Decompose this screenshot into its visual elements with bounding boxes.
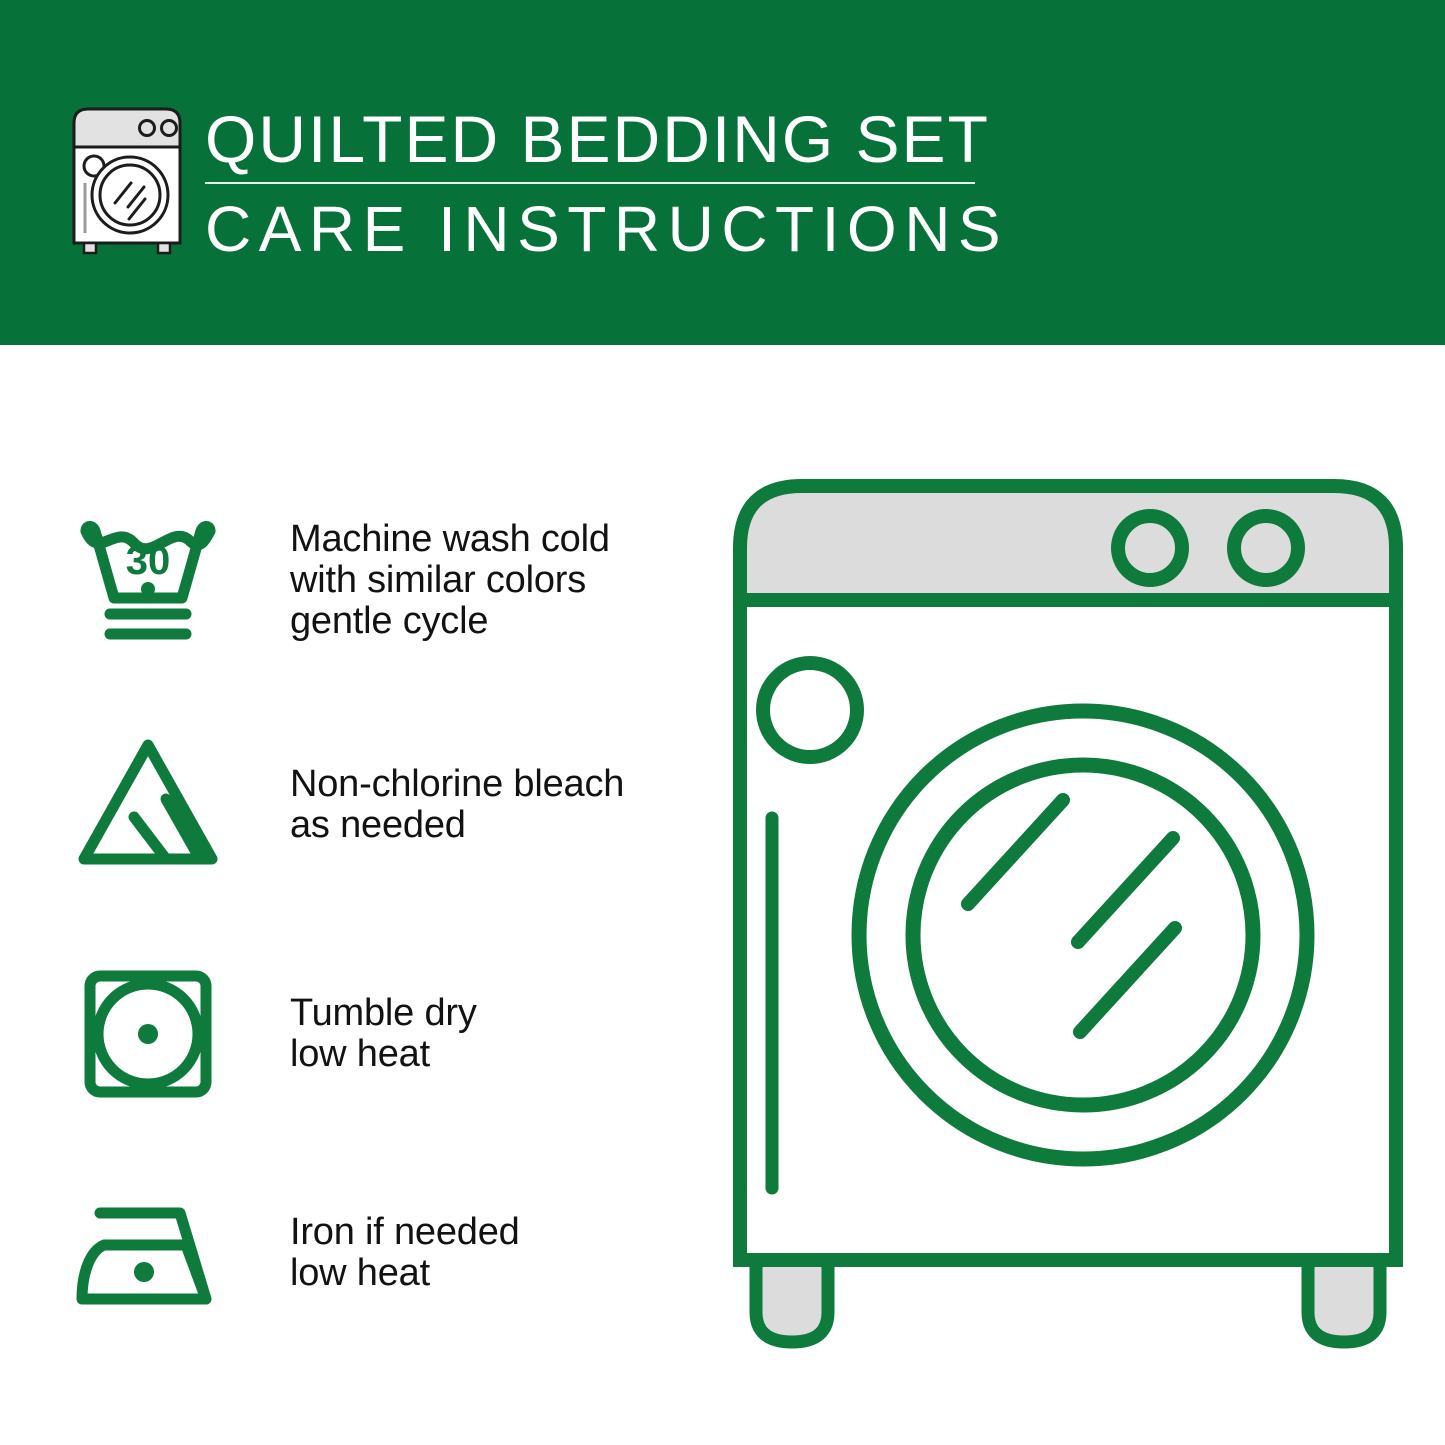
care-label-bleach: Non-chlorine bleach as needed	[290, 764, 624, 846]
header-text-block: QUILTED BEDDING SET CARE INSTRUCTIONS	[205, 100, 995, 266]
header-banner: QUILTED BEDDING SET CARE INSTRUCTIONS	[0, 0, 1445, 345]
care-row-tumble-dry: Tumble dry low heat	[0, 946, 700, 1121]
care-label-line: low heat	[290, 1034, 477, 1075]
washing-machine-logo-icon	[68, 103, 186, 255]
care-row-machine-wash: 30 Machine wash cold with similar colors…	[0, 493, 700, 668]
wash-temperature-value: 30	[126, 539, 171, 583]
care-label-line: Iron if needed	[290, 1212, 520, 1253]
care-label-machine-wash: Machine wash cold with similar colors ge…	[290, 519, 610, 642]
care-label-line: as needed	[290, 805, 624, 846]
non-chlorine-bleach-triangle-icon	[68, 725, 228, 885]
machine-dispenser-indicator	[763, 663, 857, 757]
care-label-line: Machine wash cold	[290, 519, 610, 560]
tumble-dry-low-heat-icon	[68, 954, 228, 1114]
page-subtitle: CARE INSTRUCTIONS	[205, 192, 995, 266]
machine-knob	[1118, 516, 1182, 580]
care-label-iron: Iron if needed low heat	[290, 1212, 520, 1294]
care-label-tumble-dry: Tumble dry low heat	[290, 993, 477, 1075]
care-instructions-infographic: QUILTED BEDDING SET CARE INSTRUCTIONS	[0, 0, 1445, 1445]
care-row-bleach: Non-chlorine bleach as needed	[0, 717, 700, 892]
wash-tub-30-icon: 30	[68, 501, 228, 661]
washing-machine-illustration	[718, 470, 1418, 1360]
care-row-iron: Iron if needed low heat	[0, 1165, 700, 1340]
iron-low-heat-icon	[68, 1173, 228, 1333]
care-label-line: Tumble dry	[290, 993, 477, 1034]
care-instructions-list: 30 Machine wash cold with similar colors…	[0, 345, 700, 1445]
care-label-line: low heat	[290, 1253, 520, 1294]
title-divider	[205, 182, 975, 184]
care-label-line: gentle cycle	[290, 601, 610, 642]
care-label-line: Non-chlorine bleach	[290, 764, 624, 805]
machine-knob	[1234, 516, 1298, 580]
care-label-line: with similar colors	[290, 560, 610, 601]
page-title: QUILTED BEDDING SET	[205, 100, 995, 178]
